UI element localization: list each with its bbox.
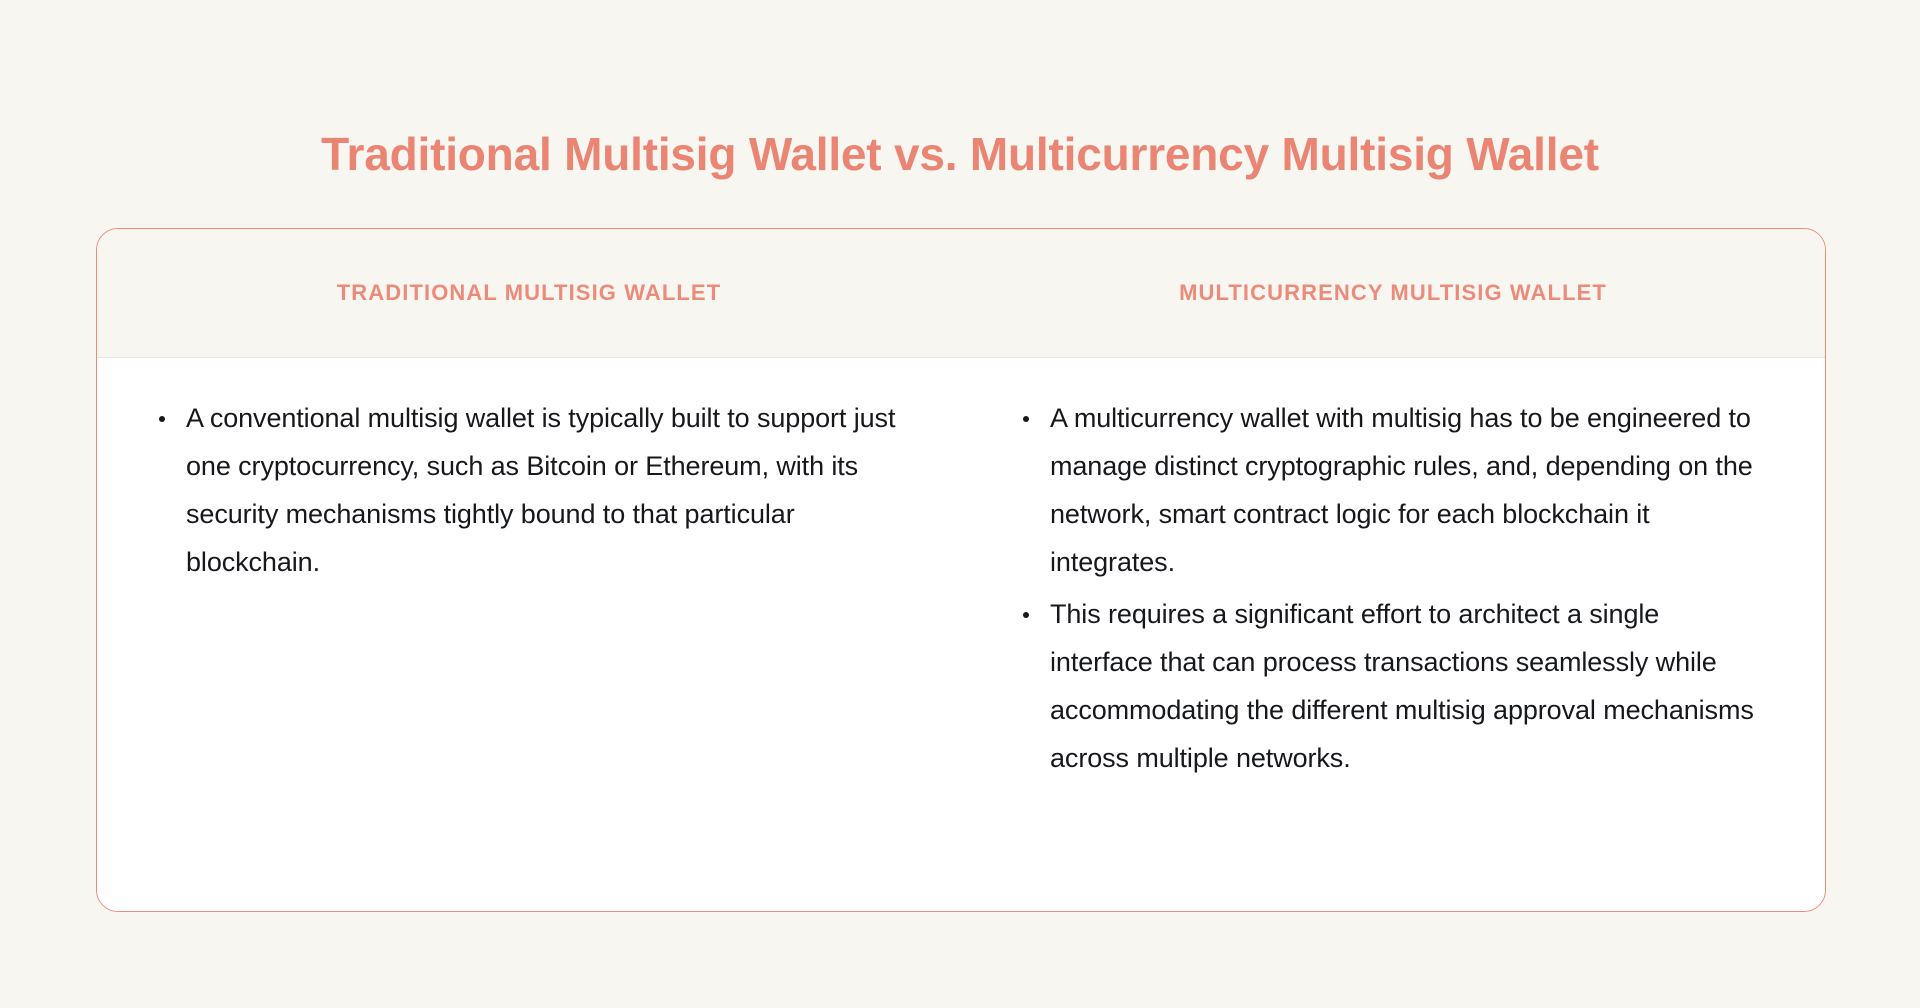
list-item: A multicurrency wallet with multisig has… xyxy=(1019,394,1767,586)
column-header-label: TRADITIONAL MULTISIG WALLET xyxy=(337,280,722,306)
bullet-list: A multicurrency wallet with multisig has… xyxy=(1019,394,1767,782)
column-body-traditional-multisig-wallet: A conventional multisig wallet is typica… xyxy=(97,358,961,911)
page-title: Traditional Multisig Wallet vs. Multicur… xyxy=(0,127,1920,182)
page-root: Traditional Multisig Wallet vs. Multicur… xyxy=(0,0,1920,1008)
comparison-body-row: A conventional multisig wallet is typica… xyxy=(97,358,1825,911)
column-header-multicurrency-multisig-wallet: MULTICURRENCY MULTISIG WALLET xyxy=(961,229,1825,357)
column-body-multicurrency-multisig-wallet: A multicurrency wallet with multisig has… xyxy=(961,358,1825,911)
column-header-traditional-multisig-wallet: TRADITIONAL MULTISIG WALLET xyxy=(97,229,961,357)
comparison-header-row: TRADITIONAL MULTISIG WALLET MULTICURRENC… xyxy=(97,229,1825,358)
bullet-list: A conventional multisig wallet is typica… xyxy=(155,394,903,586)
comparison-card: TRADITIONAL MULTISIG WALLET MULTICURRENC… xyxy=(96,228,1826,912)
list-item: A conventional multisig wallet is typica… xyxy=(155,394,903,586)
list-item: This requires a significant effort to ar… xyxy=(1019,590,1767,782)
column-header-label: MULTICURRENCY MULTISIG WALLET xyxy=(1179,280,1607,306)
